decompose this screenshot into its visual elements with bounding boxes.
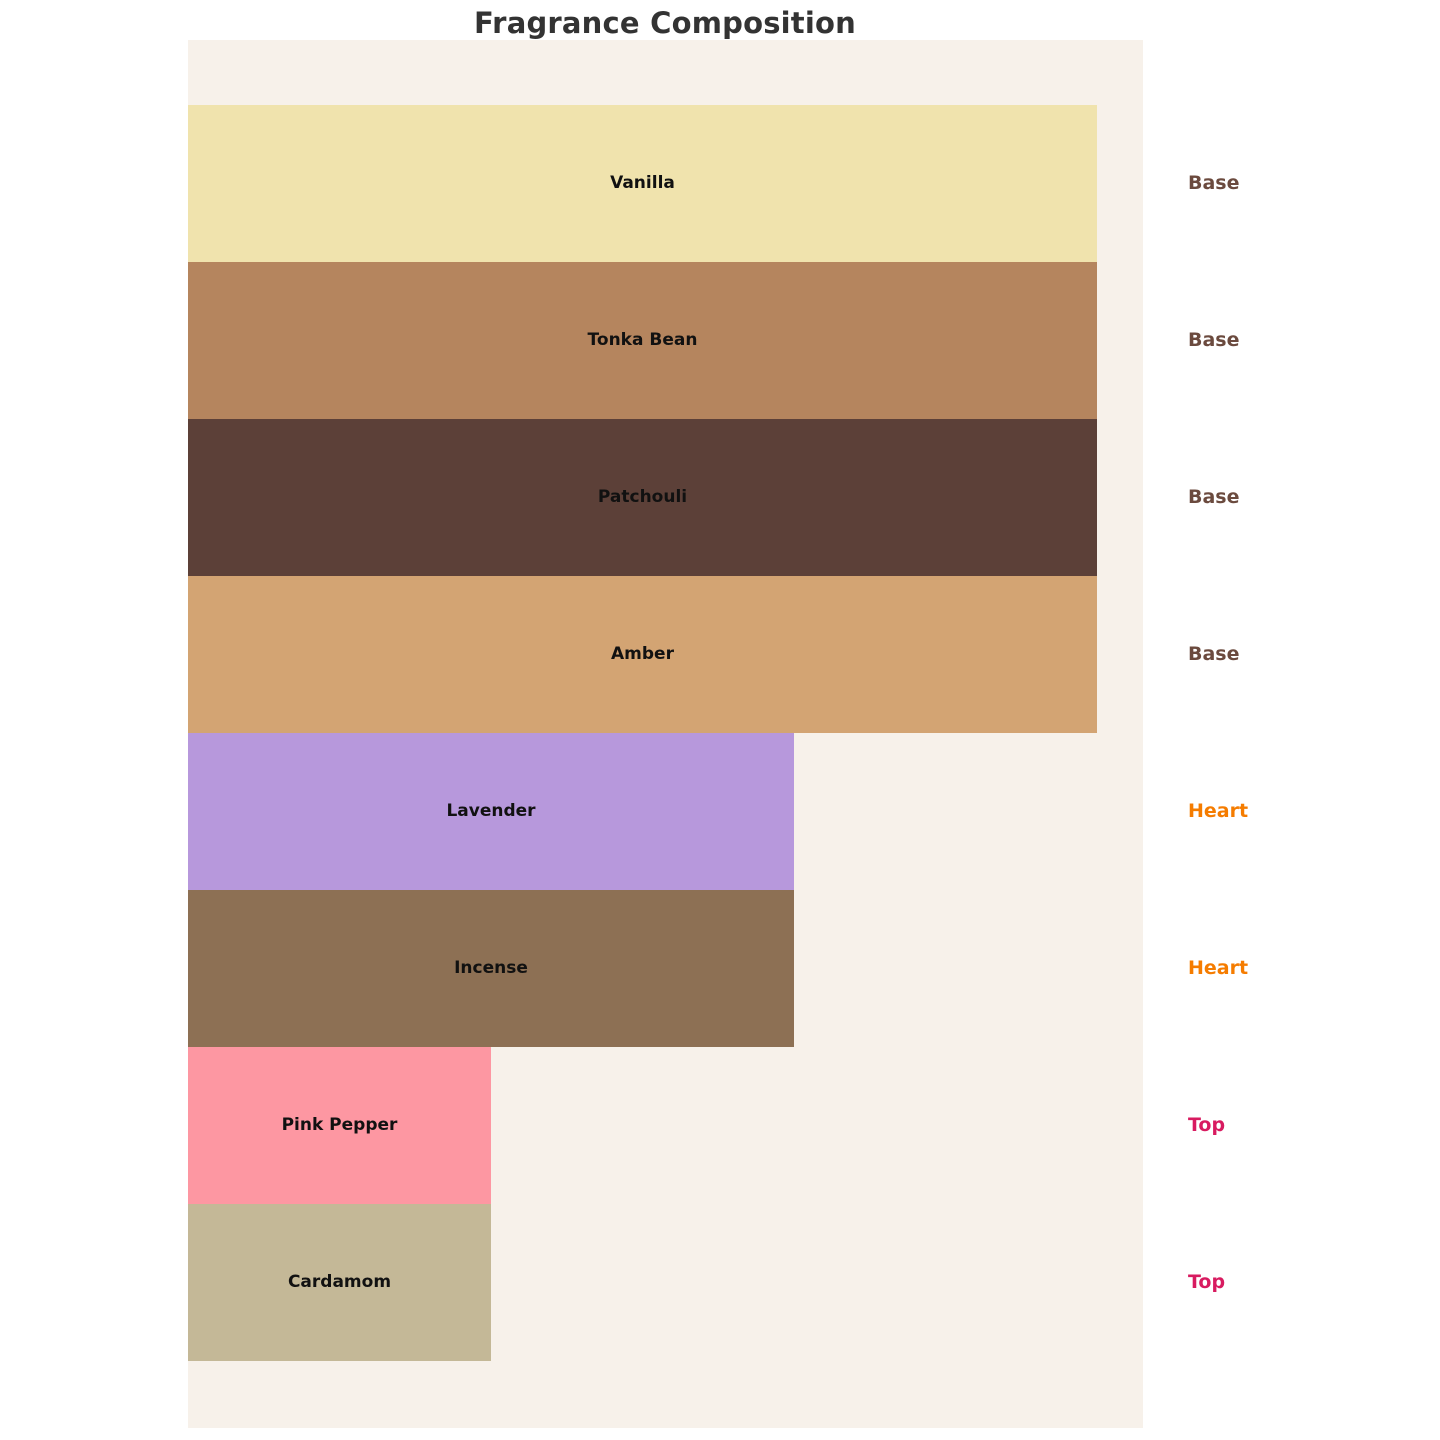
category-label-top: Top xyxy=(1188,1047,1225,1204)
category-label-heart: Heart xyxy=(1188,733,1248,890)
bar-label: Lavender xyxy=(188,733,794,890)
bar-row[interactable]: Vanilla xyxy=(188,105,1097,262)
bar-label: Cardamom xyxy=(188,1204,491,1361)
bar-row[interactable]: Lavender xyxy=(188,733,794,890)
category-label-base: Base xyxy=(1188,262,1240,419)
fragrance-composition-chart: Fragrance Composition VanillaTonka BeanP… xyxy=(0,0,1440,1440)
category-label-base: Base xyxy=(1188,419,1240,576)
category-label-heart: Heart xyxy=(1188,890,1248,1047)
bar-row[interactable]: Tonka Bean xyxy=(188,262,1097,419)
bar-label: Pink Pepper xyxy=(188,1047,491,1204)
bar-label: Incense xyxy=(188,890,794,1047)
plot-area: VanillaTonka BeanPatchouliAmberLavenderI… xyxy=(188,40,1143,1428)
category-label-top: Top xyxy=(1188,1204,1225,1361)
bar-label: Patchouli xyxy=(188,419,1097,576)
bar-row[interactable]: Pink Pepper xyxy=(188,1047,491,1204)
bar-row[interactable]: Patchouli xyxy=(188,419,1097,576)
category-label-base: Base xyxy=(1188,576,1240,733)
bar-label: Vanilla xyxy=(188,105,1097,262)
category-label-base: Base xyxy=(1188,105,1240,262)
chart-title: Fragrance Composition xyxy=(0,4,1330,42)
bar-row[interactable]: Amber xyxy=(188,576,1097,733)
bar-row[interactable]: Incense xyxy=(188,890,794,1047)
bar-row[interactable]: Cardamom xyxy=(188,1204,491,1361)
bar-label: Tonka Bean xyxy=(188,262,1097,419)
bar-label: Amber xyxy=(188,576,1097,733)
